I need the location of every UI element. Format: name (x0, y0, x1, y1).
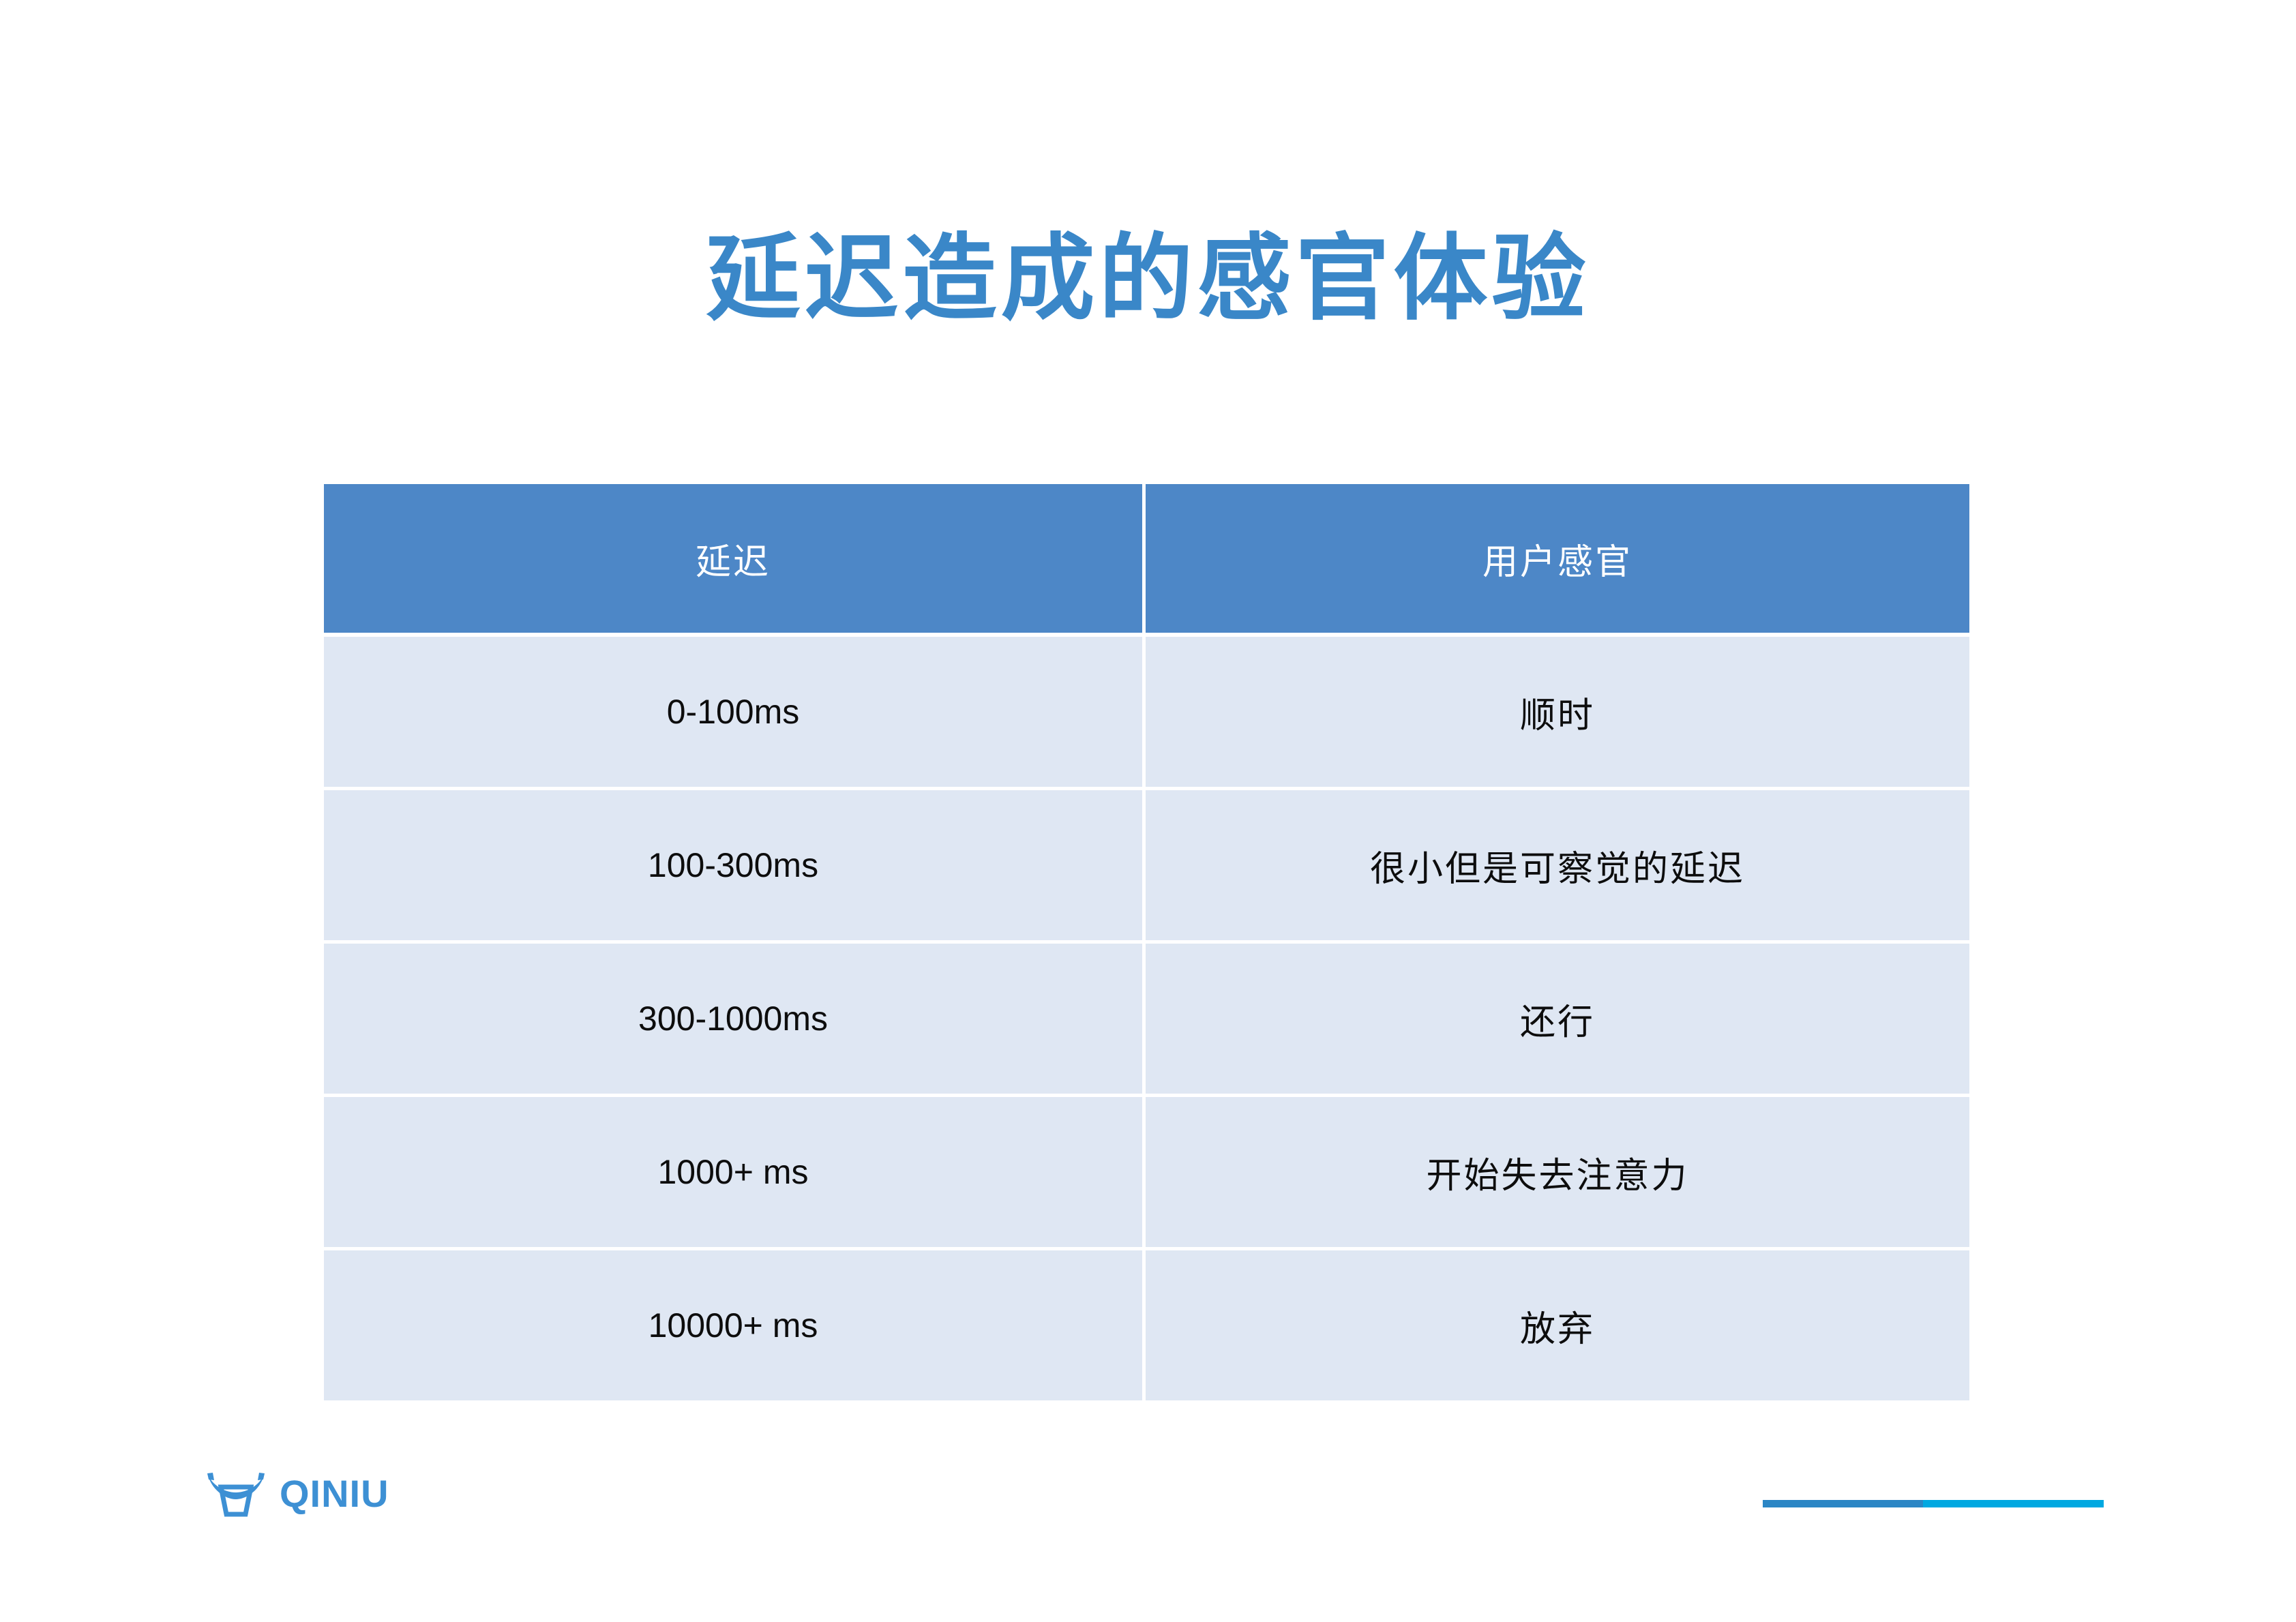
cell-feel: 顺时 (1146, 637, 1969, 790)
table-row: 10000+ ms 放弃 (324, 1250, 1969, 1400)
latency-table: 延迟 用户感官 0-100ms 顺时 100-300ms 很小但是可察觉的延迟 … (324, 484, 1969, 1400)
table-header-row: 延迟 用户感官 (324, 484, 1969, 637)
page-title: 延迟造成的感官体验 (0, 225, 2296, 334)
cell-feel: 还行 (1146, 944, 1969, 1097)
cell-feel: 放弃 (1146, 1250, 1969, 1400)
accent-bar-left-segment (1763, 1500, 1923, 1507)
qiniu-ox-icon (203, 1469, 269, 1518)
brand-wordmark: QINIU (280, 1475, 389, 1513)
cell-latency: 1000+ ms (324, 1097, 1146, 1250)
brand-logo: QINIU (203, 1469, 389, 1518)
table-row: 300-1000ms 还行 (324, 944, 1969, 1097)
table-row: 0-100ms 顺时 (324, 637, 1969, 790)
accent-bar-right-segment (1923, 1500, 2104, 1507)
cell-feel: 开始失去注意力 (1146, 1097, 1969, 1250)
cell-latency: 0-100ms (324, 637, 1146, 790)
column-header-latency: 延迟 (324, 484, 1146, 637)
footer-accent-bar (1763, 1500, 2104, 1507)
cell-latency: 100-300ms (324, 790, 1146, 944)
table-row: 100-300ms 很小但是可察觉的延迟 (324, 790, 1969, 944)
table-row: 1000+ ms 开始失去注意力 (324, 1097, 1969, 1250)
cell-latency: 10000+ ms (324, 1250, 1146, 1400)
slide-canvas: 延迟造成的感官体验 延迟 用户感官 0-100ms 顺时 100-300ms 很… (0, 0, 2296, 1622)
table-header: 延迟 用户感官 (324, 484, 1969, 637)
cell-feel: 很小但是可察觉的延迟 (1146, 790, 1969, 944)
column-header-feel: 用户感官 (1146, 484, 1969, 637)
table-body: 0-100ms 顺时 100-300ms 很小但是可察觉的延迟 300-1000… (324, 637, 1969, 1400)
cell-latency: 300-1000ms (324, 944, 1146, 1097)
